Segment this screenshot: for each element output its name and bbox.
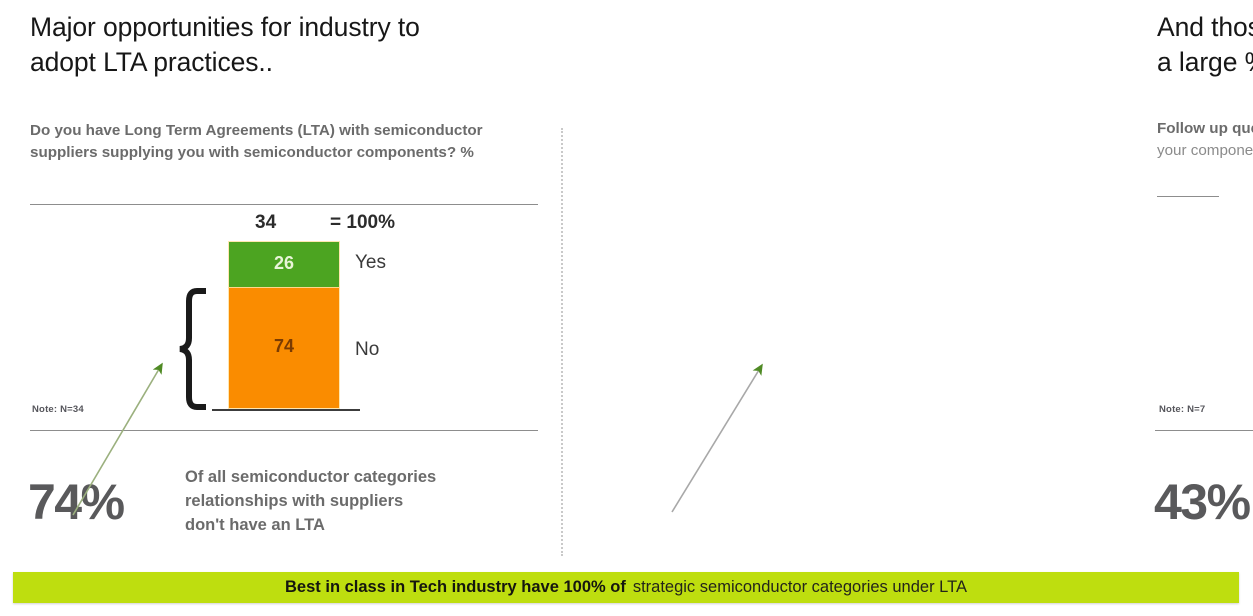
bottom-banner: Best in class in Tech industry have 100%… bbox=[13, 572, 1239, 603]
bar-label-yes: Yes bbox=[355, 252, 386, 274]
left-question: Do you have Long Term Agreements (LTA) w… bbox=[30, 120, 540, 165]
right-question-lead: Follow up question to respondents who an… bbox=[1157, 120, 1253, 137]
right-panel: And those who have LTA still have a larg… bbox=[562, 0, 1253, 560]
left-panel: Major opportunities for industry to adop… bbox=[0, 0, 562, 560]
left-heading: Major opportunities for industry to adop… bbox=[30, 10, 550, 80]
slide-canvas: Major opportunities for industry to adop… bbox=[0, 0, 1253, 616]
right-callout-number: 43% bbox=[1154, 473, 1250, 531]
right-mid-rule bbox=[1155, 430, 1253, 431]
right-top-rule bbox=[1157, 196, 1219, 197]
bar-segment-no[interactable]: 74 bbox=[228, 287, 340, 409]
bar-value-yes: 26 bbox=[229, 253, 339, 274]
bar-equals-label: = 100% bbox=[330, 212, 395, 234]
right-note: Note: N=7 bbox=[1159, 404, 1205, 415]
left-callout-text: Of all semiconductor categories relation… bbox=[185, 466, 535, 537]
bar-baseline bbox=[212, 409, 360, 411]
curly-brace-icon bbox=[176, 288, 210, 410]
stacked-bar[interactable]: 26 74 bbox=[228, 241, 340, 409]
bar-segment-yes[interactable]: 26 bbox=[228, 241, 340, 287]
right-question: Follow up question to respondents who an… bbox=[1157, 118, 1253, 163]
bar-value-no: 74 bbox=[229, 336, 339, 357]
left-callout-number: 74% bbox=[28, 473, 124, 531]
left-note: Note: N=34 bbox=[32, 404, 84, 415]
bar-total-label: 34 bbox=[255, 212, 276, 234]
bar-label-no: No bbox=[355, 339, 379, 361]
right-heading: And those who have LTA still have a larg… bbox=[1157, 10, 1253, 80]
left-mid-rule bbox=[30, 430, 538, 431]
banner-strong-text: Best in class in Tech industry have 100%… bbox=[285, 578, 626, 597]
banner-rest-text: strategic semiconductor categories under… bbox=[633, 578, 967, 597]
left-top-rule bbox=[30, 204, 538, 205]
